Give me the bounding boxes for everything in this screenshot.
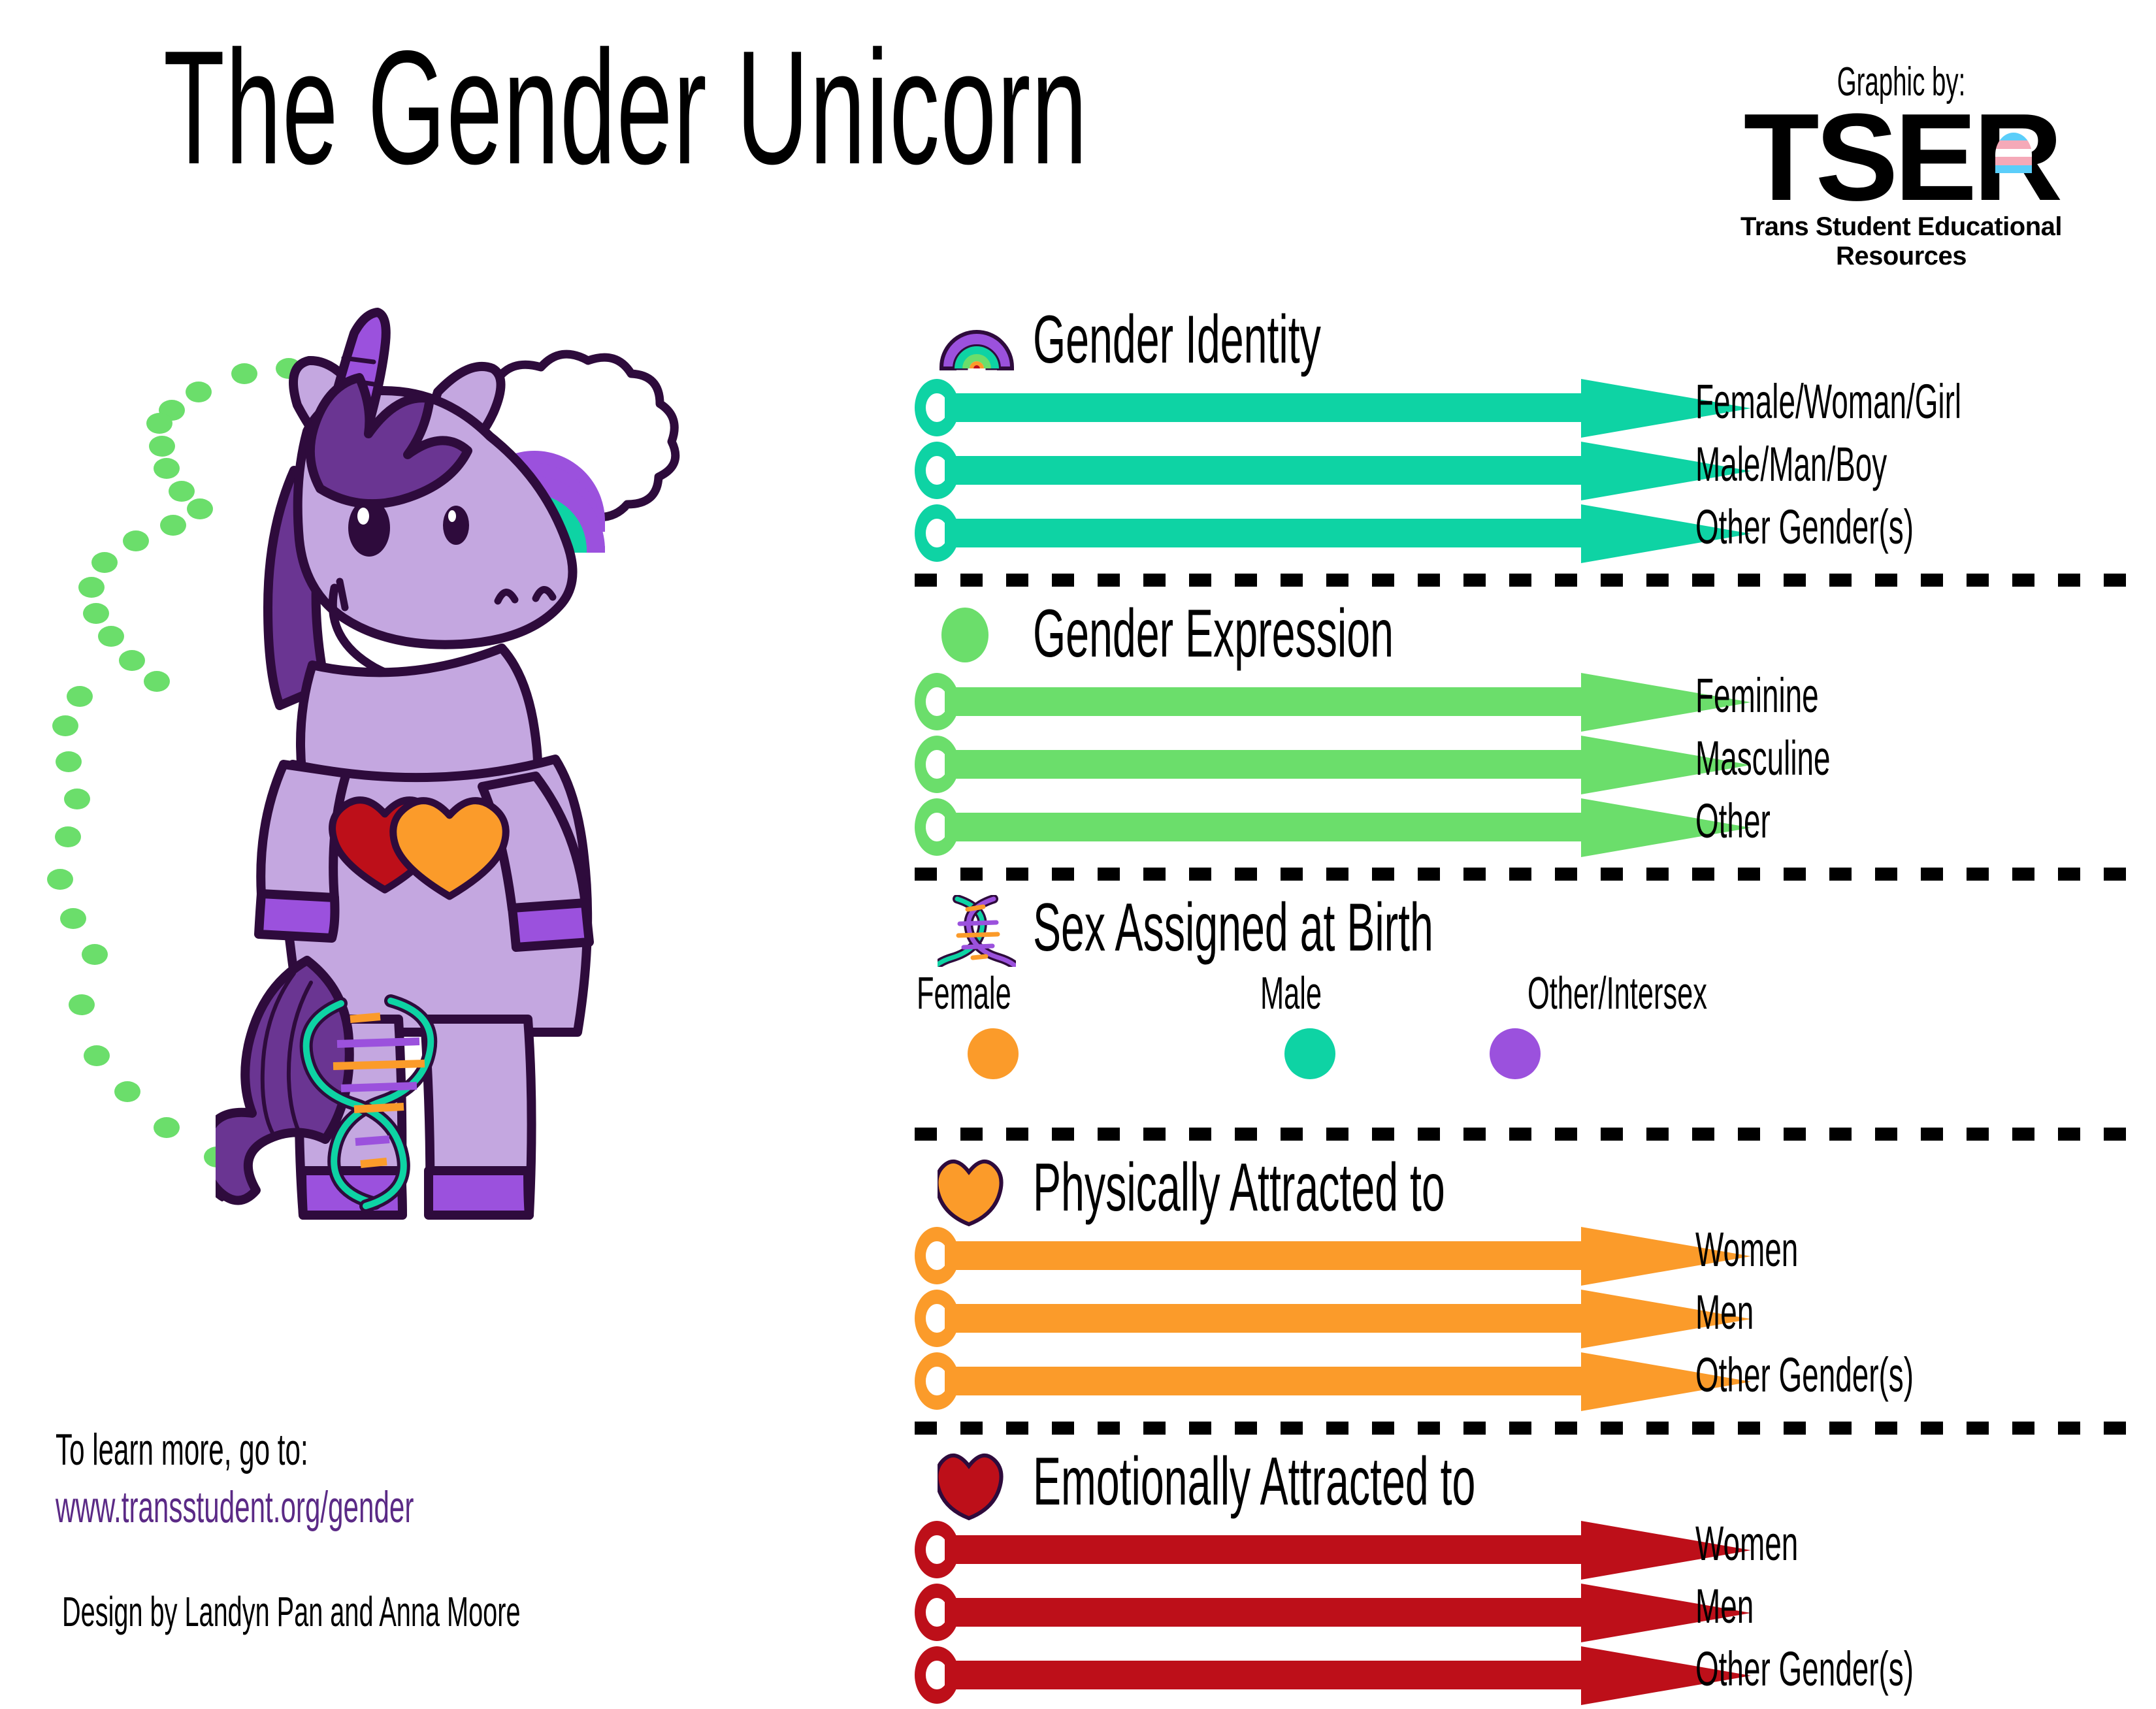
unicorn-illustration (216, 307, 738, 1372)
row-bar (945, 750, 1611, 779)
green-dot (78, 577, 105, 598)
green-dot (52, 715, 78, 736)
section-header: Gender Expression (915, 594, 2130, 673)
sab-item-other-intersex[interactable]: Other/Intersex (1490, 967, 1855, 1079)
section-title: Physically Attracted to (1033, 1149, 1445, 1227)
sab-label: Male (1260, 967, 1322, 1019)
green-dot (47, 869, 73, 890)
spectrum-sections: Gender Identity Female/Woman/Girl Male/M… (915, 301, 2130, 1709)
spectrum-rows: Feminine Masculine Other (915, 673, 2130, 857)
green-dot (160, 515, 186, 536)
row-label: Feminine (1695, 668, 1819, 723)
green-dot (169, 481, 195, 502)
design-credit: Design by Landyn Pan and Anna Moore (62, 1587, 521, 1636)
row-label: Other (1695, 793, 1771, 849)
row-label: Masculine (1695, 730, 1831, 786)
green-dot (98, 626, 124, 647)
row-label: Men (1695, 1284, 1754, 1340)
spectrum-row[interactable]: Women (915, 1521, 2130, 1580)
row-bar (945, 1661, 1611, 1689)
spectrum-row[interactable]: Other Gender(s) (915, 1352, 2130, 1411)
spectrum-row[interactable]: Men (915, 1290, 2130, 1348)
row-label: Men (1695, 1578, 1754, 1634)
spectrum-row[interactable]: Masculine (915, 736, 2130, 794)
section-header: Gender Identity (915, 301, 2130, 379)
spectrum-row[interactable]: Female/Woman/Girl (915, 379, 2130, 438)
green-dot (149, 436, 175, 457)
section-divider (915, 574, 2130, 588)
spectrum-row[interactable]: Other Gender(s) (915, 1646, 2130, 1705)
row-label: Male/Man/Boy (1695, 436, 1887, 492)
row-bar (945, 519, 1611, 547)
spectrum-rows: Women Men Other Gender(s) (915, 1521, 2130, 1705)
sab-dot (968, 1028, 1019, 1079)
row-bar (945, 1241, 1611, 1270)
green-dot (67, 686, 93, 707)
green-dot (123, 530, 149, 551)
spectrum-rows: Women Men Other Gender(s) (915, 1227, 2130, 1411)
green-dot (154, 458, 180, 479)
learn-more-url[interactable]: www.transstudent.org/gender (56, 1482, 414, 1533)
green-dot (154, 1117, 180, 1138)
spectrum-row[interactable]: Other (915, 798, 2130, 857)
spectrum-row[interactable]: Feminine (915, 673, 2130, 732)
tser-logo-block: Graphic by: TSER Trans Student Education… (1699, 62, 2104, 271)
row-bar (945, 456, 1611, 485)
row-bar (945, 1367, 1611, 1395)
green-dot (146, 413, 172, 434)
spectrum-row[interactable]: Male/Man/Boy (915, 442, 2130, 500)
sab-label: Other/Intersex (1527, 967, 1707, 1019)
row-bar (945, 687, 1611, 716)
row-bar (945, 1535, 1611, 1564)
section-title: Gender Expression (1033, 595, 1394, 673)
section-title: Sex Assigned at Birth (1033, 889, 1433, 967)
orange-heart-icon (938, 1155, 1016, 1220)
green-dot (83, 603, 109, 624)
section-header: Emotionally Attracted to (915, 1442, 2130, 1521)
row-bar (945, 813, 1611, 841)
green-dot (186, 382, 212, 402)
row-bar (945, 1304, 1611, 1333)
page-title: The Gender Unicorn (163, 26, 1088, 188)
trans-flag-icon (1995, 133, 2032, 173)
section-physically-attracted-to: Physically Attracted to Women Men Other … (915, 1148, 2130, 1411)
row-label: Women (1695, 1222, 1798, 1277)
green-dot (69, 994, 95, 1015)
section-divider (915, 1128, 2130, 1142)
section-sex-assigned-at-birth: Sex Assigned at Birth Female Male Other/… (915, 888, 2130, 1117)
learn-more-label: To learn more, go to: (56, 1424, 308, 1475)
green-dot (82, 944, 108, 965)
section-header: Sex Assigned at Birth (915, 888, 2130, 967)
spectrum-rows: Female/Woman/Girl Male/Man/Boy Other Gen… (915, 379, 2130, 563)
sex-assigned-items: Female Male Other/Intersex (915, 967, 2130, 1117)
section-gender-expression: Gender Expression Feminine Masculine Oth… (915, 594, 2130, 857)
sab-dot (1284, 1028, 1335, 1079)
row-label: Other Gender(s) (1695, 1641, 1914, 1697)
green-dot (114, 1081, 140, 1102)
sab-label: Female (917, 967, 1011, 1019)
row-label: Women (1695, 1516, 1798, 1571)
green-dot (64, 789, 90, 809)
row-label: Other Gender(s) (1695, 499, 1914, 555)
dna-icon (938, 895, 1016, 960)
rainbow-icon (938, 307, 1016, 372)
green-dot (144, 671, 170, 692)
section-header: Physically Attracted to (915, 1148, 2130, 1227)
row-label: Other Gender(s) (1695, 1347, 1914, 1403)
sab-item-male[interactable]: Male (1235, 967, 1385, 1079)
section-title: Gender Identity (1033, 301, 1321, 379)
sab-item-female[interactable]: Female (908, 967, 1078, 1079)
section-title: Emotionally Attracted to (1033, 1443, 1475, 1521)
green-dot (119, 650, 145, 671)
row-label: Female/Woman/Girl (1695, 374, 1961, 429)
spectrum-row[interactable]: Women (915, 1227, 2130, 1286)
spectrum-row[interactable]: Other Gender(s) (915, 504, 2130, 563)
green-dot (187, 498, 213, 519)
sab-dot (1490, 1028, 1541, 1079)
section-gender-identity: Gender Identity Female/Woman/Girl Male/M… (915, 301, 2130, 563)
green-dot (55, 826, 81, 847)
green-dot (84, 1045, 110, 1066)
red-heart-icon (938, 1449, 1016, 1514)
tser-wordmark: TSER (1744, 105, 2059, 211)
green-circle-icon (938, 601, 1016, 666)
green-dot (56, 751, 82, 772)
section-divider (915, 868, 2130, 882)
green-dot (60, 908, 86, 929)
green-dot (91, 552, 118, 573)
spectrum-row[interactable]: Men (915, 1584, 2130, 1642)
row-bar (945, 1598, 1611, 1627)
section-divider (915, 1422, 2130, 1436)
row-bar (945, 393, 1611, 422)
